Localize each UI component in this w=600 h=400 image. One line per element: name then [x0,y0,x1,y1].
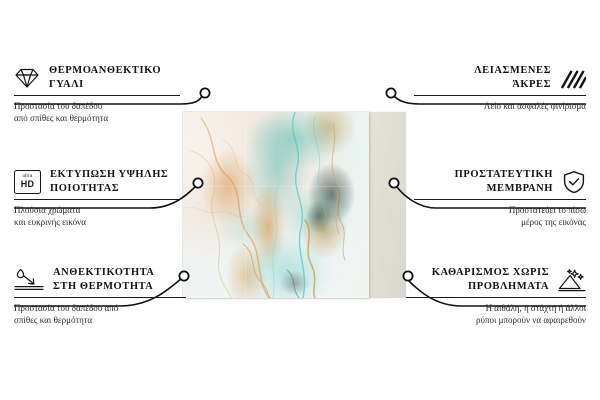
infographic-canvas: ΘΕΡΜΟΑΝΘΕΚΤΙΚΟ ΓΥΑΛΙ Προστασία του δαπέδ… [0,0,600,400]
feature-divider [14,297,186,298]
feature-desc-line1: Προστασία του δαπέδου από [14,303,186,315]
polished-edges-icon [560,67,586,89]
feature-divider [414,95,586,96]
shield-check-icon [562,170,586,194]
easy-cleaning-icon [558,268,586,292]
ultra-hd-icon: ultra HD [14,170,41,194]
feature-divider [14,199,180,200]
ultra-hd-badge-large: HD [21,180,35,189]
feature-title-line2: ΆΚΡΕΣ [474,78,551,92]
product-image [183,112,369,298]
feature-divider [414,199,586,200]
feature-desc-line1: Προστασία του δαπέδου [14,101,180,113]
feature-title-line2: ΜΕΜΒΡΑΝΗ [455,182,553,196]
feature-heat-resistant-glass: ΘΕΡΜΟΑΝΘΕΚΤΙΚΟ ΓΥΑΛΙ Προστασία του δαπέδ… [14,64,180,124]
feature-desc-line1: Λείο και ασφαλές φινίρισμα [414,101,586,113]
feature-heat-durability: ΑΝΘΕΚΤΙΚΟΤΗΤΑ ΣΤΗ ΘΕΡΜΟΤΗΤΑ Προστασία το… [14,266,186,326]
feature-desc-line2: από σπίθες και θερμότητα [14,113,180,125]
feature-title-line1: ΕΚΤΥΠΩΣΗ ΥΨΗΛΗΣ [50,168,168,182]
feature-desc-line2: ρύποι μπορούν να αφαιρεθούν [406,315,586,327]
feature-desc-line2: μέρος της εικόνας [414,217,586,229]
flame-heat-resistance-icon [14,268,44,292]
feature-title-line1: ΛΕΙΑΣΜΕΝΕΣ [474,64,551,78]
feature-title-line1: ΑΝΘΕΚΤΙΚΟΤΗΤΑ [53,266,154,280]
feature-title-line2: ΓΥΑΛΙ [49,78,161,92]
feature-high-quality-print: ultra HD ΕΚΤΥΠΩΣΗ ΥΨΗΛΗΣ ΠΟΙΟΤΗΤΑΣ Πλούσ… [14,168,180,228]
feature-title-line1: ΘΕΡΜΟΑΝΘΕΚΤΙΚΟ [49,64,161,78]
feature-title-line1: ΠΡΟΣΤΑΤΕΥΤΙΚΗ [455,168,553,182]
connector-dot-right-1 [386,88,395,97]
feature-protective-membrane: ΠΡΟΣΤΑΤΕΥΤΙΚΗ ΜΕΜΒΡΑΝΗ Προστατεύει το πί… [414,168,586,228]
feature-easy-cleaning: ΚΑΘΑΡΙΣΜΟΣ ΧΩΡΙΣ ΠΡΟΒΛΗΜΑΤΑ Η αιθάλη, η … [406,266,586,326]
feature-desc-line1: Προστατεύει το πίσω [414,205,586,217]
feature-desc-line2: και ευκρινής εικόνα [14,217,180,229]
feature-title-line2: ΣΤΗ ΘΕΡΜΟΤΗΤΑ [53,280,154,294]
feature-divider [406,297,586,298]
product-image-wrap [183,112,406,298]
feature-desc-line1: Η αιθάλη, η στάχτη ή άλλοι [406,303,586,315]
feature-title-line2: ΠΟΙΟΤΗΤΑΣ [50,182,168,196]
feature-desc-line2: σπίθες και θερμότητα [14,315,186,327]
feature-divider [14,95,180,96]
feature-title-line1: ΚΑΘΑΡΙΣΜΟΣ ΧΩΡΙΣ [432,266,549,280]
feature-title-line2: ΠΡΟΒΛΗΜΑΤΑ [432,280,549,294]
feature-polished-edges: ΛΕΙΑΣΜΕΝΕΣ ΆΚΡΕΣ Λείο και ασφαλές φινίρι… [414,64,586,113]
connector-dot-left-1 [200,88,209,97]
feature-desc-line1: Πλούσια χρώματα [14,205,180,217]
diamond-icon [14,67,40,89]
artwork-glass-sheen [183,112,369,298]
